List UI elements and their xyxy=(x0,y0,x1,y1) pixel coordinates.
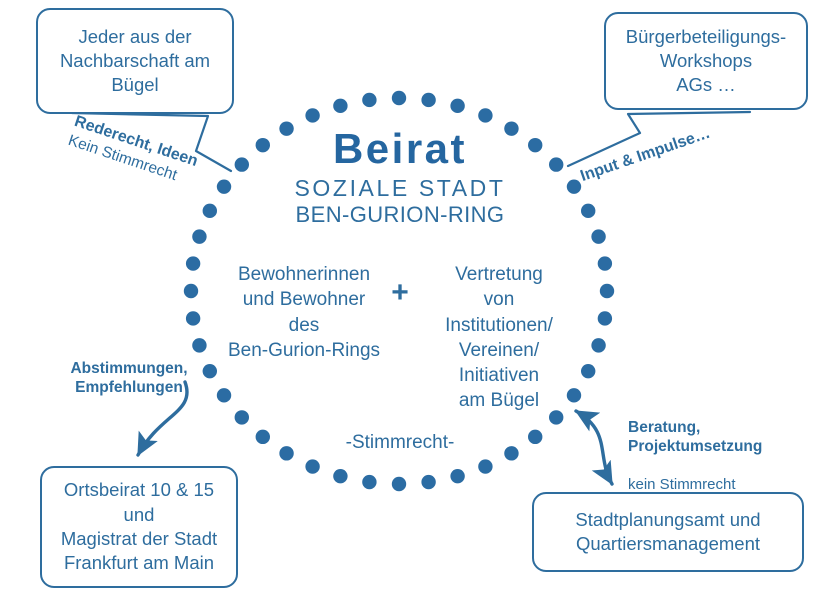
ring-dot xyxy=(217,388,231,402)
ring-dot xyxy=(504,446,518,460)
box-ortsbeirat: Ortsbeirat 10 & 15 und Magistrat der Sta… xyxy=(40,466,238,588)
ring-dot xyxy=(591,338,605,352)
page-title: Beirat xyxy=(300,128,500,170)
ring-dot xyxy=(528,430,542,444)
annotation-beratung-regular: kein Stimmrecht xyxy=(628,476,814,494)
center-column-institutions: Vertretung von Institutionen/ Vereinen/ … xyxy=(418,262,580,414)
annotation-beratung: Beratung, Projektumsetzung kein Stimmrec… xyxy=(628,400,814,513)
ring-dot xyxy=(421,93,435,107)
ring-dot xyxy=(392,91,406,105)
ring-dot xyxy=(235,157,249,171)
box-ortsbeirat-text: Ortsbeirat 10 & 15 und Magistrat der Sta… xyxy=(53,478,225,576)
center-footer-stimmrecht: -Stimmrecht- xyxy=(320,432,480,455)
speech-bubble-neighbourhood-text: Jeder aus der Nachbarschaft am Bügel xyxy=(52,25,218,96)
ring-dot xyxy=(567,179,581,193)
ring-dot xyxy=(279,121,293,135)
ring-dot xyxy=(504,121,518,135)
ring-dot xyxy=(333,99,347,113)
subtitle-ben-gurion-ring: BEN-GURION-RING xyxy=(278,203,522,227)
ring-dot xyxy=(186,311,200,325)
ring-dot xyxy=(450,99,464,113)
ring-dot xyxy=(362,475,376,489)
ring-dot xyxy=(362,93,376,107)
ring-dot xyxy=(279,446,293,460)
ring-dot xyxy=(549,157,563,171)
ring-dot xyxy=(305,459,319,473)
ring-dot xyxy=(581,204,595,218)
ring-dot xyxy=(528,138,542,152)
ring-dot xyxy=(591,229,605,243)
ring-dot xyxy=(478,108,492,122)
ring-dot xyxy=(450,469,464,483)
speech-bubble-workshops: Bürgerbeteiligungs- Workshops AGs … xyxy=(604,12,808,110)
ring-dot xyxy=(598,311,612,325)
ring-dot xyxy=(305,108,319,122)
ring-dot xyxy=(333,469,347,483)
ring-dot xyxy=(600,284,614,298)
center-column-residents: Bewohnerinnen und Bewohner des Ben-Gurio… xyxy=(212,262,396,363)
ring-dot xyxy=(392,477,406,491)
ring-dot xyxy=(256,138,270,152)
ring-dot xyxy=(581,364,595,378)
ring-dot xyxy=(184,284,198,298)
ring-dot xyxy=(203,204,217,218)
ring-dot xyxy=(421,475,435,489)
box-stadtplanungsamt-text: Stadtplanungsamt und Quartiersmanagement xyxy=(567,508,768,557)
diagram-canvas: Jeder aus der Nachbarschaft am Bügel Red… xyxy=(0,0,820,600)
ring-dot xyxy=(186,256,200,270)
ring-dot xyxy=(256,430,270,444)
ring-dot xyxy=(478,459,492,473)
subtitle-soziale-stadt: SOZIALE STADT xyxy=(278,176,522,201)
annotation-abstimmungen: Abstimmungen, Empfehlungen xyxy=(44,360,214,398)
ring-dot xyxy=(235,410,249,424)
arrow-beratung xyxy=(576,411,612,484)
ring-dot xyxy=(598,256,612,270)
speech-bubble-workshops-text: Bürgerbeteiligungs- Workshops AGs … xyxy=(618,25,794,96)
ring-dot xyxy=(192,229,206,243)
annotation-beratung-bold: Beratung, Projektumsetzung xyxy=(628,419,814,457)
ring-dot xyxy=(192,338,206,352)
speech-bubble-neighbourhood: Jeder aus der Nachbarschaft am Bügel xyxy=(36,8,234,114)
ring-dot xyxy=(217,179,231,193)
plus-icon: + xyxy=(386,278,414,308)
